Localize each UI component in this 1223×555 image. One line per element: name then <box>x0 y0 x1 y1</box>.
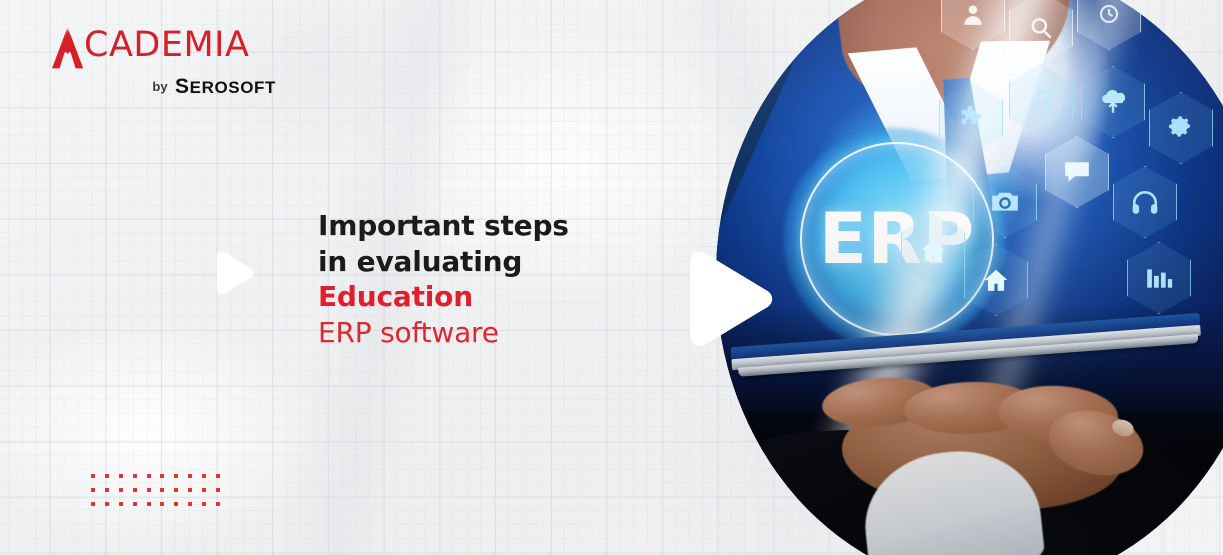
dot <box>147 502 151 506</box>
dot <box>202 488 206 492</box>
dot <box>147 474 151 478</box>
logo-byline-brand: SEROSOFT <box>175 78 276 97</box>
logo-row: CADEMIA <box>50 27 280 69</box>
dot <box>174 474 178 478</box>
logo-byline: by SEROSOFT <box>50 75 280 99</box>
headline-line-1: Important steps <box>318 208 618 244</box>
home-icon-left <box>964 244 1028 316</box>
headline-line-2: in evaluating <box>318 244 618 280</box>
dot <box>202 502 206 506</box>
bar-chart-icon <box>1127 242 1191 314</box>
page-title: Important steps in evaluating Education … <box>318 208 618 350</box>
dot <box>119 502 123 506</box>
dot <box>216 474 220 478</box>
dot <box>174 502 178 506</box>
logo-byline-brand-rest: EROSOFT <box>190 78 276 97</box>
dot <box>160 488 164 492</box>
dot <box>160 474 164 478</box>
dot <box>188 474 192 478</box>
dot <box>105 474 109 478</box>
dot <box>147 488 151 492</box>
dot <box>188 502 192 506</box>
dot <box>216 488 220 492</box>
dot <box>133 502 137 506</box>
chat-bubble-icon <box>1045 136 1109 208</box>
dot <box>133 474 137 478</box>
headline-line-3: Education <box>318 279 618 315</box>
play-triangle-large[interactable] <box>678 247 778 351</box>
academia-erp-banner: CADEMIA by SEROSOFT Important steps in e… <box>0 0 1223 555</box>
search-icon <box>1009 0 1073 64</box>
music-note-icon <box>1009 64 1073 136</box>
academia-logo[interactable]: CADEMIA by SEROSOFT <box>50 27 280 99</box>
dot <box>105 502 109 506</box>
logo-byline-prefix: by <box>152 79 167 94</box>
dot <box>174 488 178 492</box>
dot <box>133 488 137 492</box>
dot <box>216 502 220 506</box>
dot <box>119 474 123 478</box>
camera-icon <box>973 166 1037 238</box>
dot <box>188 488 192 492</box>
user-icon <box>941 0 1005 50</box>
logo-wordmark: CADEMIA <box>84 27 249 63</box>
puzzle-piece-icon <box>939 82 1003 154</box>
dot <box>160 502 164 506</box>
dot <box>202 474 206 478</box>
home-icon <box>901 214 965 286</box>
gear-icon <box>1149 92 1213 164</box>
dot <box>91 488 95 492</box>
dot <box>105 488 109 492</box>
headphones-icon <box>1113 166 1177 238</box>
dot <box>91 474 95 478</box>
red-dot-grid <box>91 474 230 516</box>
headline-line-4: ERP software <box>318 315 618 351</box>
hero-photo-panel: ERP <box>716 0 1223 555</box>
dot <box>91 502 95 506</box>
play-triangle-small[interactable] <box>210 249 256 297</box>
logo-byline-brand-cap: S <box>175 75 190 98</box>
dot <box>119 488 123 492</box>
academia-chevron-a-mark <box>50 27 86 69</box>
cloud-upload-icon <box>1081 66 1145 138</box>
